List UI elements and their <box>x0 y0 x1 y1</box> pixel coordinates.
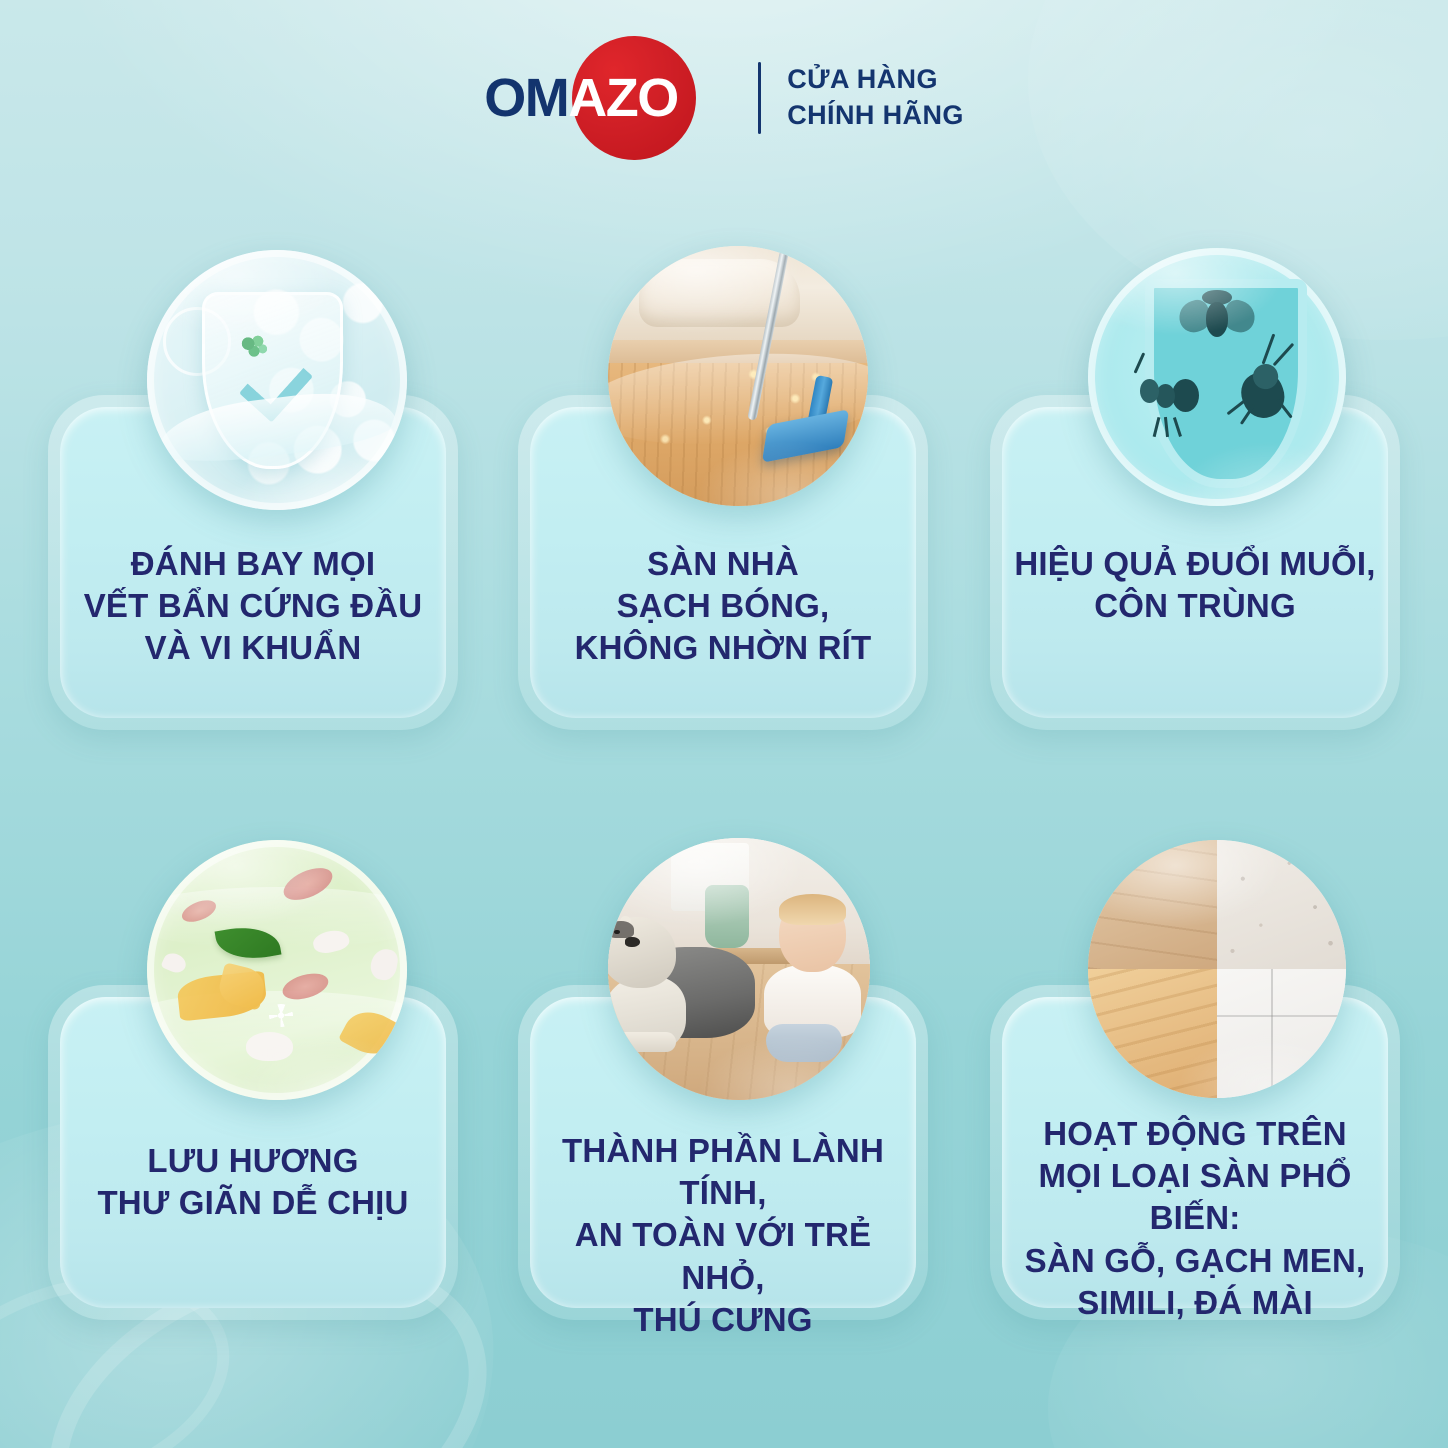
fly-body <box>1206 302 1229 337</box>
ceramic-tile-quadrant <box>1217 969 1346 1098</box>
baby-pants <box>766 1024 841 1062</box>
medallion-art <box>608 246 868 506</box>
wood-floor-quadrant <box>1088 840 1217 969</box>
feature-card-label: SÀN NHÀ SẠCH BÓNG, KHÔNG NHỜN RÍT <box>536 543 910 670</box>
medallion-art <box>1088 840 1346 1098</box>
herbal-fragrance-image <box>147 840 407 1100</box>
medallion-art <box>1088 248 1346 506</box>
petal-icon <box>368 947 399 982</box>
dog-icon <box>608 911 755 1058</box>
feature-card-label: LƯU HƯƠNG THƯ GIÃN DỄ CHỊU <box>66 1140 440 1224</box>
insect-shield-image <box>1088 248 1346 506</box>
ant-antenna <box>1134 352 1146 373</box>
medallion-art <box>147 840 407 1100</box>
germ-icon <box>240 334 267 358</box>
fly-icon <box>1183 292 1250 349</box>
ant-icon <box>1134 367 1201 424</box>
ant-abdomen <box>1172 379 1199 412</box>
jasmine-flower-icon <box>269 1004 292 1027</box>
medallion-art <box>608 838 870 1100</box>
laminate-floor-quadrant <box>1088 969 1217 1098</box>
ant-thorax <box>1156 384 1175 408</box>
floor-types-quadrant-image <box>1088 840 1346 1098</box>
baby-icon <box>760 896 865 1069</box>
feature-card-label: THÀNH PHẦN LÀNH TÍNH, AN TOÀN VỚI TRẺ NH… <box>536 1130 910 1341</box>
petal-icon <box>246 1032 293 1061</box>
feature-grid: ĐÁNH BAY MỌI VẾT BẨN CỨNG ĐẦU VÀ VI KHUẨ… <box>0 0 1448 1448</box>
baby-and-dog-image <box>608 838 870 1100</box>
baby-hair <box>779 894 846 925</box>
dog-face-mask <box>608 921 634 938</box>
mop-wooden-floor-image <box>608 246 868 506</box>
dog-head <box>608 917 676 987</box>
feature-card-label: HOẠT ĐỘNG TRÊN MỌI LOẠI SÀN PHỔ BIẾN: SÀ… <box>1008 1113 1382 1324</box>
petal-icon <box>160 950 189 976</box>
shield-checkmark-bubbles-image <box>147 250 407 510</box>
dog-snout <box>625 937 640 947</box>
dog-eye <box>614 930 619 934</box>
terrazzo-floor-quadrant <box>1217 840 1346 969</box>
ant-head <box>1140 379 1159 403</box>
promo-banner: OMAZO CỬA HÀNG CHÍNH HÃNG ĐÁNH BAY MỌI V… <box>0 0 1448 1448</box>
medallion-art <box>147 250 407 510</box>
cockroach-icon <box>1232 356 1299 428</box>
feature-card-label: ĐÁNH BAY MỌI VẾT BẨN CỨNG ĐẦU VÀ VI KHUẨ… <box>66 543 440 670</box>
dog-paws <box>610 1032 676 1053</box>
feature-card-label: HIỆU QUẢ ĐUỔI MUỖI, CÔN TRÙNG <box>1008 543 1382 627</box>
